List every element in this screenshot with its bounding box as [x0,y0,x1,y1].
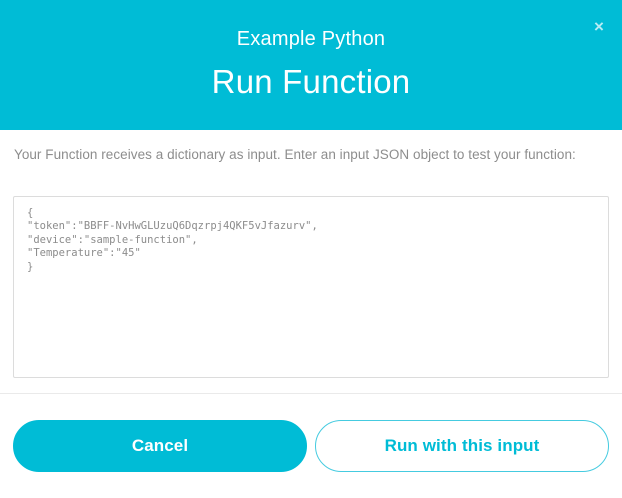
run-function-modal: Example Python Run Function × Your Funct… [0,0,622,498]
close-icon[interactable]: × [587,14,611,38]
instruction-text: Your Function receives a dictionary as i… [14,147,576,162]
cancel-button[interactable]: Cancel [13,420,307,472]
modal-footer: Cancel Run with this input [0,393,622,498]
modal-subtitle: Example Python [237,25,385,53]
modal-title: Run Function [212,60,411,104]
modal-body: Your Function receives a dictionary as i… [0,130,622,393]
modal-header: Example Python Run Function × [0,0,622,130]
json-input[interactable] [13,196,609,378]
run-with-this-input-button[interactable]: Run with this input [315,420,609,472]
